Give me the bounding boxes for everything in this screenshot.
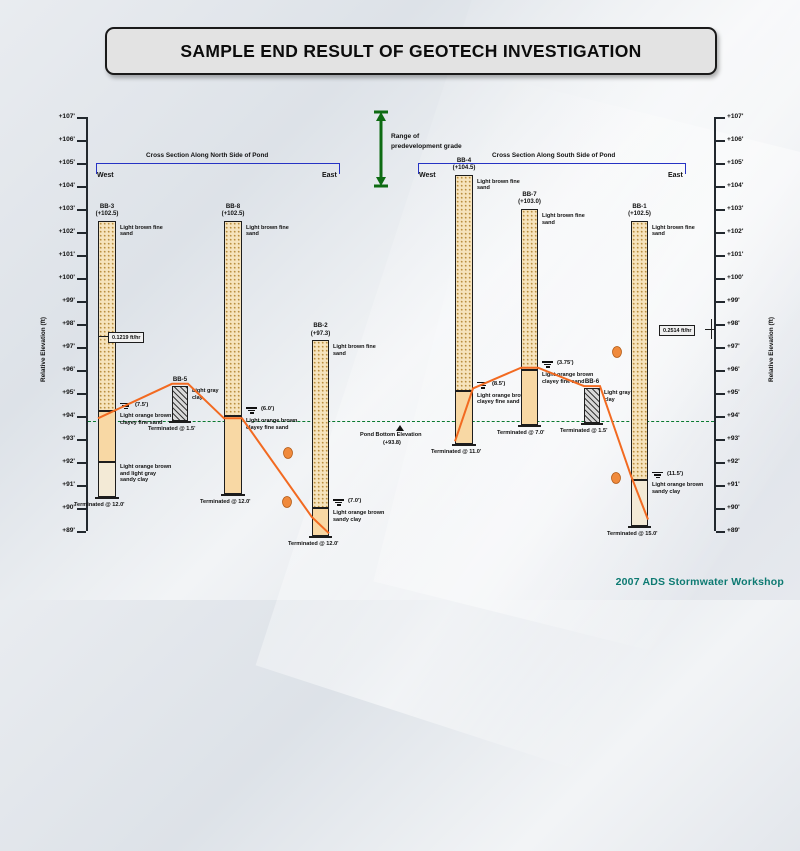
layer-label-line: sand [120, 231, 163, 238]
layer-label-line: Light brown fine [652, 225, 695, 232]
boring-layer [631, 221, 648, 481]
axis-tick [716, 301, 725, 303]
permeability-leader-tick [98, 336, 108, 337]
range-of-grade-note: Range of [391, 133, 419, 142]
axis-tick-label: +89' [62, 527, 75, 534]
boring-label-bb-3: BB-3(+102.5) [86, 203, 128, 218]
axis-tick [77, 393, 86, 395]
boring-base [452, 444, 476, 446]
axis-tick-label: +102' [59, 228, 75, 235]
water-table-bar [477, 382, 488, 383]
axis-tick [716, 117, 725, 119]
water-table-bar [333, 499, 344, 500]
boring-layer-label: Light brown finesand [652, 225, 695, 238]
section-title: Cross Section Along South Side of Pond [492, 152, 615, 159]
axis-tick-label: +94' [62, 412, 75, 419]
boring-base [309, 536, 332, 538]
boring-base [628, 526, 651, 528]
range-of-grade-note-2: predevelopment grade [391, 143, 462, 152]
boring-label-bb-5: BB-5 [160, 376, 200, 383]
axis-tick-label: +97' [727, 343, 740, 350]
permeability-callout: 0.1219 ft/hr [108, 332, 144, 343]
axis-tick-label: +95' [727, 389, 740, 396]
pond-bottom-label: Pond Bottom Elevation [360, 432, 422, 439]
boring-layer [312, 340, 329, 508]
water-table-depth-bb-1: (11.5') [667, 471, 683, 477]
axis-tick [716, 485, 725, 487]
axis-tick [716, 186, 725, 188]
axis-tick-label: +93' [62, 435, 75, 442]
water-table-bar [122, 405, 130, 406]
axis-tick [77, 232, 86, 234]
boring-base [95, 497, 119, 499]
layer-label-line: sand [652, 231, 695, 238]
boring-elevation-bb-1: (+102.5) [619, 210, 660, 217]
axis-caption-right: Relative Elevation (ft) [768, 317, 775, 382]
water-table-bar [544, 364, 552, 365]
axis-tick [77, 370, 86, 372]
water-table-bar [654, 474, 662, 475]
axis-tick [77, 255, 86, 257]
boring-layer [312, 508, 329, 536]
boring-label-bb-7: BB-7(+103.0) [509, 191, 550, 206]
boring-layer [455, 175, 473, 391]
axis-tick-label: +103' [727, 205, 743, 212]
boring-layer-label: Light orange brownclayey fine sand [246, 418, 297, 431]
axis-tick [716, 232, 725, 234]
layer-label-line: clay [604, 397, 631, 404]
section-direction-east: East [322, 172, 337, 179]
axis-tick-label: +96' [62, 366, 75, 373]
water-table-depth-bb-7: (3.75') [557, 360, 574, 366]
axis-tick [77, 531, 86, 533]
axis-tick-label: +94' [727, 412, 740, 419]
axis-tick-label: +92' [727, 458, 740, 465]
boring-layer [98, 411, 116, 462]
water-table-bar [248, 410, 256, 411]
boring-label-bb-6: BB-6 [572, 378, 612, 385]
axis-tick-label: +106' [727, 136, 743, 143]
water-table-bar [120, 403, 131, 404]
axis-tick [716, 462, 725, 464]
pond-bottom-elevation: (+93.8) [383, 440, 401, 447]
water-table-bar [335, 502, 343, 503]
section-direction-west: West [419, 172, 436, 179]
boring-terminated-bb-4: Terminated @ 11.0' [431, 449, 481, 455]
axis-tick-label: +102' [727, 228, 743, 235]
axis-tick-label: +101' [727, 251, 743, 258]
axis-tick [716, 347, 725, 349]
boring-layer-label: Light grayclay [192, 388, 219, 401]
boring-layer-label: Light brown finesand [542, 213, 585, 226]
axis-tick [77, 278, 86, 280]
layer-label-line: Light orange brown [246, 418, 297, 425]
boring-layer [224, 221, 242, 417]
boring-label-bb-4: BB-4(+104.5) [443, 157, 485, 172]
axis-tick [716, 140, 725, 142]
axis-tick-label: +93' [727, 435, 740, 442]
axis-tick-label: +107' [727, 113, 743, 120]
axis-tick-label: +99' [727, 297, 740, 304]
footer-credit: 2007 ADS Stormwater Workshop [616, 576, 784, 588]
boring-elevation-bb-8: (+102.5) [212, 210, 254, 217]
boring-elevation-bb-3: (+102.5) [86, 210, 128, 217]
boring-layer [584, 388, 600, 423]
axis-tick-label: +95' [62, 389, 75, 396]
boring-label-bb-2: BB-2(+97.3) [300, 322, 341, 337]
layer-label-line: Light orange brown [333, 510, 384, 517]
axis-tick [716, 255, 725, 257]
layer-label-line: Light brown fine [246, 225, 289, 232]
water-table-bar [481, 387, 485, 388]
boring-layer-label: Light orange brownsandy clay [652, 482, 703, 495]
boring-layer-label: Light brown finesand [246, 225, 289, 238]
axis-tick-label: +104' [727, 182, 743, 189]
boring-terminated-bb-8: Terminated @ 12.0' [200, 499, 251, 505]
layer-label-line: Light brown fine [477, 179, 520, 186]
layer-label-line: Light brown fine [120, 225, 163, 232]
boring-layer-label: Light grayclay [604, 390, 631, 403]
axis-tick [716, 324, 725, 326]
layer-label-line: Light orange brown [120, 413, 171, 420]
axis-tick [716, 439, 725, 441]
axis-tick [716, 416, 725, 418]
layer-label-line: Light orange brown [652, 482, 703, 489]
axis-tick [716, 508, 725, 510]
boring-layer [521, 370, 538, 425]
axis-tick-label: +104' [59, 182, 75, 189]
axis-tick [716, 393, 725, 395]
boring-layer-label: Light orange brownand light graysandy cl… [120, 464, 171, 484]
layer-label-line: Light gray [604, 390, 631, 397]
section-direction-west: West [97, 172, 114, 179]
axis-tick-label: +105' [59, 159, 75, 166]
boring-layer [455, 391, 473, 444]
axis-tick [77, 508, 86, 510]
axis-tick [77, 140, 86, 142]
axis-tick [77, 462, 86, 464]
axis-tick-label: +100' [59, 274, 75, 281]
axis-caption-left: Relative Elevation (ft) [40, 317, 47, 382]
water-table-depth-bb-3: (7.5') [135, 402, 148, 408]
axis-tick-label: +90' [727, 504, 740, 511]
permeability-callout: 0.2514 ft/hr [659, 325, 695, 336]
boring-layer-label: Light brown finesand [477, 179, 520, 192]
axis-tick-label: +97' [62, 343, 75, 350]
section-direction-east: East [668, 172, 683, 179]
boring-label-bb-1: BB-1(+102.5) [619, 203, 660, 218]
section-title: Cross Section Along North Side of Pond [146, 152, 268, 159]
boring-layer [631, 480, 648, 526]
axis-tick-label: +107' [59, 113, 75, 120]
boring-base [581, 423, 603, 425]
layer-label-line: sandy clay [120, 477, 171, 484]
axis-tick [77, 163, 86, 165]
pond-bottom-arrow [396, 425, 404, 431]
boring-layer [521, 209, 538, 370]
layer-label-line: and light gray [120, 471, 171, 478]
axis-tick [77, 209, 86, 211]
axis-tick [716, 278, 725, 280]
axis-tick [716, 531, 725, 533]
boring-terminated-bb-3: Terminated @ 12.0' [74, 502, 125, 508]
boring-elevation-bb-2: (+97.3) [300, 330, 341, 337]
water-table-bar [124, 408, 128, 409]
permeability-leader-tick [705, 329, 715, 330]
axis-tick [77, 439, 86, 441]
axis-tick [77, 347, 86, 349]
axis-line-l [86, 117, 88, 531]
layer-label-line: Light gray [192, 388, 219, 395]
axis-tick-label: +99' [62, 297, 75, 304]
boring-layer [172, 386, 188, 421]
axis-tick-label: +96' [727, 366, 740, 373]
axis-tick [77, 416, 86, 418]
axis-tick [77, 324, 86, 326]
axis-tick [77, 301, 86, 303]
axis-tick-label: +91' [62, 481, 75, 488]
boring-layer [98, 221, 116, 412]
layer-label-line: Light orange brown [120, 464, 171, 471]
boring-terminated-bb-7: Terminated @ 7.0' [497, 430, 544, 436]
axis-tick [77, 485, 86, 487]
water-table-bar [546, 366, 550, 367]
water-table-depth-bb-2: (7.0') [348, 498, 361, 504]
boring-layer-label: Light brown finesand [120, 225, 163, 238]
water-table-bar [250, 412, 254, 413]
boring-base [221, 494, 245, 496]
boring-terminated-bb-2: Terminated @ 12.0' [288, 541, 339, 547]
water-table-bar [652, 472, 663, 473]
axis-tick-label: +91' [727, 481, 740, 488]
axis-tick-label: +101' [59, 251, 75, 258]
boring-layer [98, 462, 116, 497]
boring-terminated-bb-1: Terminated @ 15.0' [607, 531, 658, 537]
axis-tick-label: +105' [727, 159, 743, 166]
boring-layer-label: Light brown finesand [333, 344, 376, 357]
layer-label-line: sandy clay [333, 517, 384, 524]
layer-label-line: Light brown fine [542, 213, 585, 220]
layer-label-line: clayey fine sand [246, 425, 297, 432]
boring-base [169, 421, 191, 423]
axis-tick-label: +100' [727, 274, 743, 281]
layer-label-line: sand [333, 351, 376, 358]
layer-label-line: Light brown fine [333, 344, 376, 351]
cross-section-diagram: +107'+106'+105'+104'+103'+102'+101'+100'… [0, 0, 800, 600]
section-bracket [96, 163, 340, 174]
boring-elevation-bb-4: (+104.5) [443, 164, 485, 171]
water-table-bar [656, 477, 660, 478]
boring-terminated-bb-5: Terminated @ 1.5' [148, 426, 195, 432]
axis-tick-label: +92' [62, 458, 75, 465]
axis-tick-label: +103' [59, 205, 75, 212]
axis-tick-label: +98' [727, 320, 740, 327]
boring-layer [224, 416, 242, 494]
axis-tick-label: +106' [59, 136, 75, 143]
layer-label-line: sandy clay [652, 489, 703, 496]
water-table-bar [542, 361, 553, 362]
axis-tick [77, 186, 86, 188]
axis-tick [716, 163, 725, 165]
boring-elevation-bb-7: (+103.0) [509, 198, 550, 205]
axis-tick-label: +98' [62, 320, 75, 327]
axis-tick [716, 370, 725, 372]
water-table-bar [479, 385, 487, 386]
layer-label-line: sand [246, 231, 289, 238]
boring-label-bb-8: BB-8(+102.5) [212, 203, 254, 218]
axis-tick [716, 209, 725, 211]
boring-layer-label: Light orange brownclayey fine sand [120, 413, 171, 426]
boring-layer-label: Light orange brownsandy clay [333, 510, 384, 523]
boring-terminated-bb-6: Terminated @ 1.5' [560, 428, 607, 434]
water-table-bar [246, 407, 257, 408]
water-table-bar [337, 504, 341, 505]
axis-tick-label: +89' [727, 527, 740, 534]
layer-label-line: sand [542, 220, 585, 227]
water-table-depth-bb-8: (6.0') [261, 406, 274, 412]
water-table-depth-bb-4: (8.5') [492, 381, 505, 387]
layer-label-line: clay [192, 395, 219, 402]
boring-base [518, 425, 541, 427]
axis-tick [77, 117, 86, 119]
